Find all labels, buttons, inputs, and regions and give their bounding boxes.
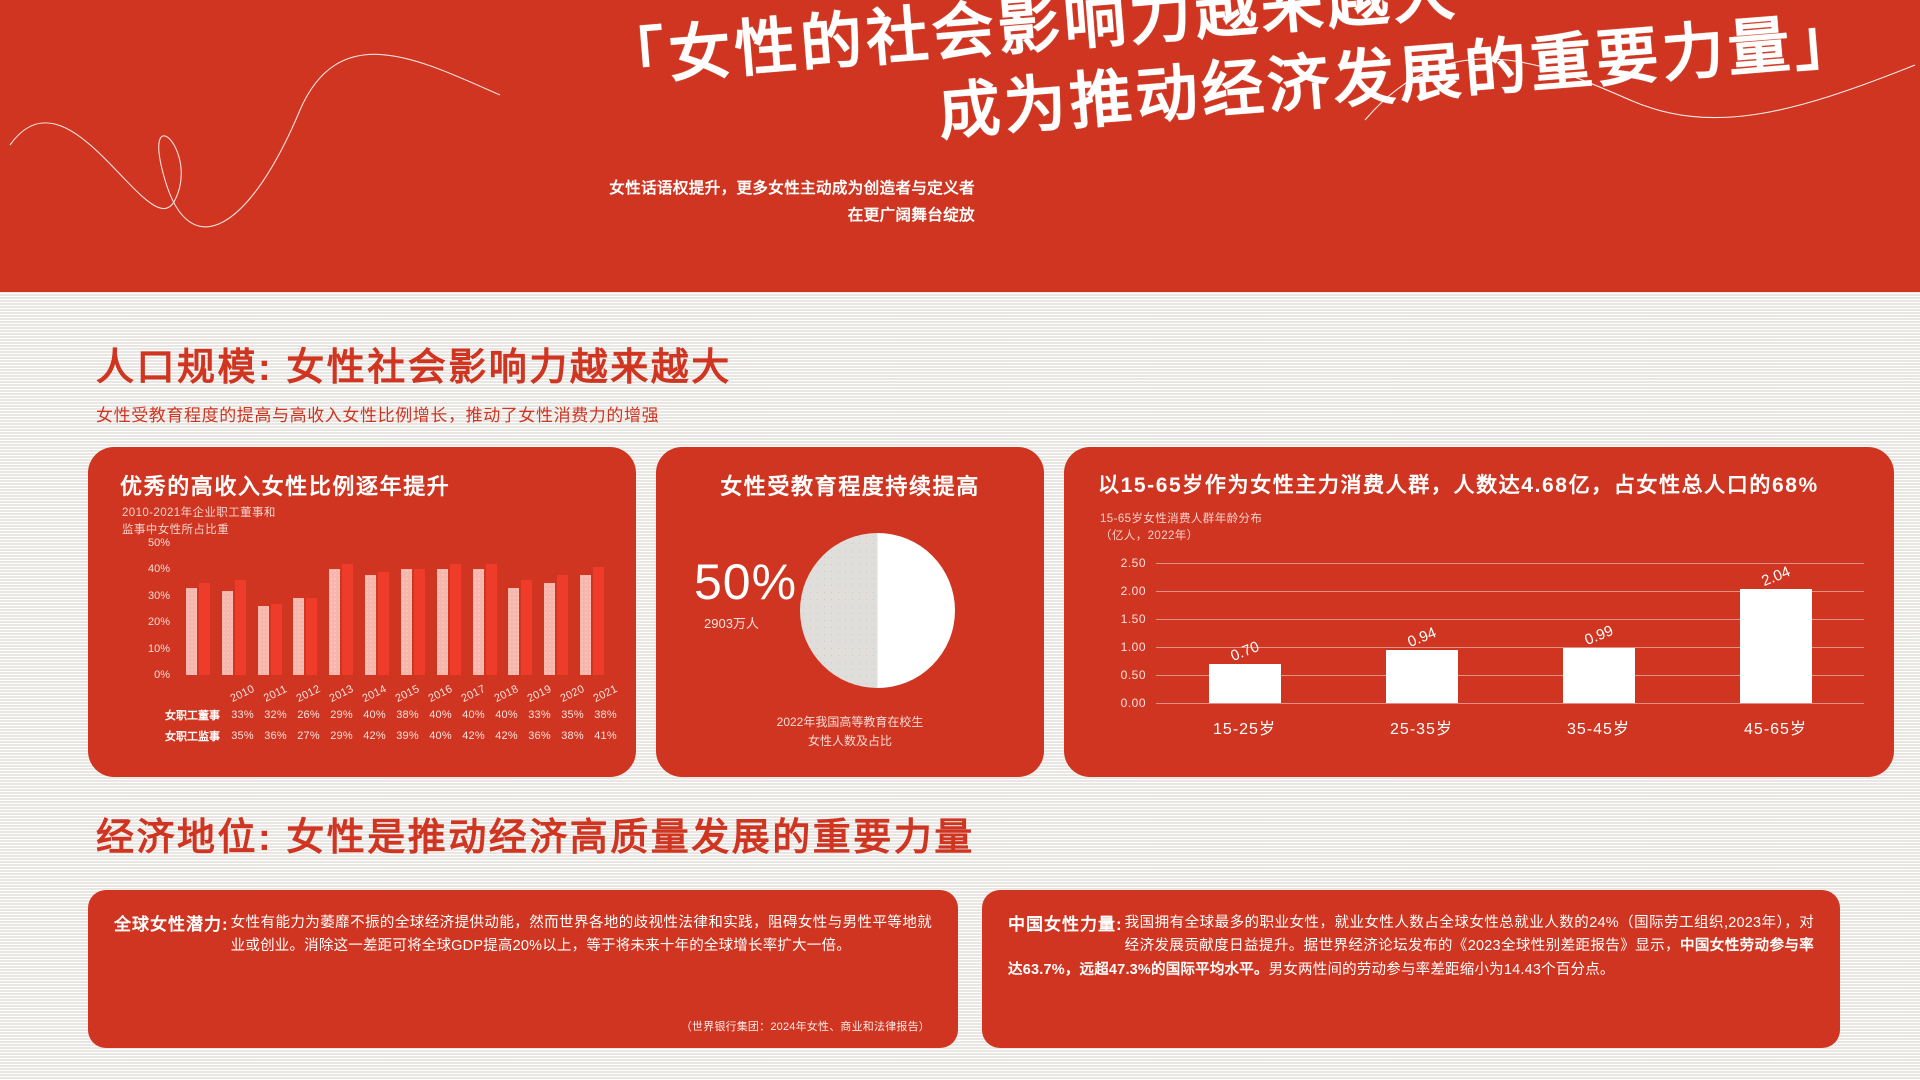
income-data-table: 2010201120122013201420152016201720182019… [122, 683, 622, 746]
panel-global-potential: 全球女性潜力: 女性有能力为萎靡不振的全球经济提供动能，然而世界各地的歧视性法律… [88, 890, 958, 1048]
consumption-category-label: 45-65岁 [1687, 715, 1864, 739]
consumption-y-tick: 1.50 [1100, 612, 1146, 626]
income-bar [544, 583, 555, 675]
consumption-bar: 2.04 [1740, 589, 1812, 703]
section-two-title: 经济地位: 女性是推动经济高质量发展的重要力量 [96, 806, 975, 861]
income-table-year-header: 2015 [390, 681, 425, 706]
income-table-cell: 32% [259, 709, 292, 721]
consumption-gridline [1156, 703, 1864, 704]
income-bar [378, 572, 389, 675]
income-bar-group [252, 543, 288, 675]
income-table-cell: 40% [490, 709, 523, 721]
card-income-note-line1: 2010-2021年企业职工董事和 [122, 505, 276, 522]
income-bar [557, 575, 568, 675]
legend-swatch-icon [126, 708, 224, 723]
insight-panels-row: 全球女性潜力: 女性有能力为萎靡不振的全球经济提供动能，然而世界各地的歧视性法律… [88, 890, 1840, 1048]
consumption-category-label: 25-35岁 [1333, 715, 1510, 739]
consumption-category-label: 15-25岁 [1156, 715, 1333, 739]
card-income-share: 优秀的高收入女性比例逐年提升 2010-2021年企业职工董事和 监事中女性所占… [88, 447, 636, 777]
income-bar-group [323, 543, 359, 675]
income-bar-group [574, 543, 610, 675]
income-table-cell: 36% [523, 730, 556, 742]
income-table-cell: 40% [424, 730, 457, 742]
income-table-year-header: 2017 [456, 681, 491, 706]
consumption-bar-value: 0.70 [1228, 638, 1261, 665]
income-bar-group [395, 543, 431, 675]
panel-global-body: 女性有能力为萎靡不振的全球经济提供动能，然而世界各地的歧视性法律和实践，阻碍女性… [114, 912, 932, 959]
income-table-year-header: 2013 [324, 681, 359, 706]
card-consumption-note-line2: （亿人，2022年） [1100, 528, 1262, 545]
card-education-caption-line1: 2022年我国高等教育在校生 [656, 713, 1044, 732]
income-bar-group [216, 543, 252, 675]
income-bar [293, 598, 304, 675]
income-table-cell: 36% [259, 730, 292, 742]
hero-title: 「女性的社会影响力越来越大 成为推动经济发展的重要力量」 [600, 0, 1909, 180]
consumption-bar-value: 0.94 [1405, 625, 1438, 652]
hero-subtitle-line1: 女性话语权提升，更多女性主动成为创造者与定义者 [455, 175, 975, 202]
consumption-category-label: 35-45岁 [1510, 715, 1687, 739]
income-bar [306, 598, 317, 675]
consumption-chart-plot: 0.700.940.992.04 [1156, 563, 1864, 703]
consumption-bar: 0.70 [1209, 664, 1281, 703]
hero-banner: 「女性的社会影响力越来越大 成为推动经济发展的重要力量」 女性话语权提升，更多女… [0, 0, 1920, 292]
income-bar [437, 569, 448, 675]
panel-china-body: 我国拥有全球最多的职业女性，就业女性人数占全球女性总就业人数的24%（国际劳工组… [1008, 912, 1814, 982]
income-table-cell: 39% [391, 730, 424, 742]
income-bar-group [431, 543, 467, 675]
hero-subtitle: 女性话语权提升，更多女性主动成为创造者与定义者 在更广阔舞台绽放 [455, 175, 975, 229]
income-table-cell: 41% [589, 730, 622, 742]
income-y-tick: 20% [122, 616, 170, 628]
card-consumption-population: 以15-65岁作为女性主力消费人群，人数达4.68亿，占女性总人口的68% 15… [1064, 447, 1894, 777]
income-y-tick: 50% [122, 537, 170, 549]
card-consumption-title: 以15-65岁作为女性主力消费人群，人数达4.68亿，占女性总人口的68% [1098, 469, 1819, 499]
income-table-cell: 38% [589, 709, 622, 721]
card-consumption-note: 15-65岁女性消费人群年龄分布 （亿人，2022年） [1100, 511, 1262, 546]
card-consumption-note-line1: 15-65岁女性消费人群年龄分布 [1100, 511, 1262, 528]
section-one-title: 人口规模: 女性社会影响力越来越大 [96, 336, 732, 391]
income-bar-chart: 50%40%30%20%10%0% [122, 543, 610, 675]
panel-global-lead: 全球女性潜力: [114, 912, 231, 938]
income-table-row: 女职工监事35%36%27%29%42%39%40%42%42%36%38%41… [122, 725, 622, 746]
pie-center-value: 50% [694, 553, 797, 611]
income-table-year-header: 2012 [291, 681, 326, 706]
consumption-y-tick: 2.50 [1100, 556, 1146, 570]
income-table-cell: 38% [391, 709, 424, 721]
income-bar-group [502, 543, 538, 675]
income-y-tick: 0% [122, 669, 170, 681]
income-table-year-header: 2021 [588, 681, 623, 706]
income-bar [580, 575, 591, 675]
income-table-cell: 38% [556, 730, 589, 742]
income-table-year-header: 2010 [225, 681, 260, 706]
income-table-cell: 42% [457, 730, 490, 742]
consumption-bar-group: 0.99 [1510, 563, 1687, 703]
income-bar-group [467, 543, 503, 675]
education-pie-chart: 50% 2903万人 [656, 525, 1044, 695]
income-table-cell: 26% [292, 709, 325, 721]
consumption-bar-group: 0.70 [1156, 563, 1333, 703]
income-bar-group [359, 543, 395, 675]
consumption-y-tick: 0.50 [1100, 668, 1146, 682]
income-bar-group [180, 543, 216, 675]
income-table-cell: 27% [292, 730, 325, 742]
income-bar [365, 575, 376, 675]
card-income-note: 2010-2021年企业职工董事和 监事中女性所占比重 [122, 505, 276, 540]
income-bar [521, 580, 532, 675]
income-y-tick: 10% [122, 643, 170, 655]
income-bar [258, 606, 269, 675]
consumption-chart-categories: 15-25岁25-35岁35-45岁45-65岁 [1156, 715, 1864, 739]
income-bar [486, 564, 497, 675]
card-education-title: 女性受教育程度持续提高 [656, 469, 1044, 501]
card-income-title: 优秀的高收入女性比例逐年提升 [120, 469, 450, 501]
income-table-cell: 40% [424, 709, 457, 721]
income-table-cell: 29% [325, 709, 358, 721]
consumption-bar: 0.99 [1563, 648, 1635, 703]
income-bar [329, 569, 340, 675]
income-bar [235, 580, 246, 675]
income-bar [414, 569, 425, 675]
legend-swatch-icon [126, 729, 224, 744]
income-table-header-row: 2010201120122013201420152016201720182019… [122, 683, 622, 704]
income-table-year-header: 2018 [489, 681, 524, 706]
income-bar [186, 588, 197, 675]
income-table-cell: 35% [556, 709, 589, 721]
section-two-heading: 经济地位: 女性是推动经济高质量发展的重要力量 [96, 806, 975, 861]
hero-subtitle-line2: 在更广阔舞台绽放 [455, 202, 975, 229]
income-bar [401, 569, 412, 675]
income-series-legend: 女职工监事 [122, 728, 226, 744]
income-table-cell: 40% [457, 709, 490, 721]
consumption-bar-group: 0.94 [1333, 563, 1510, 703]
income-bar [222, 591, 233, 675]
consumption-bar-value: 2.04 [1759, 563, 1792, 590]
income-bar [473, 569, 484, 675]
income-bar [271, 604, 282, 675]
income-table-cell: 33% [523, 709, 556, 721]
income-y-tick: 40% [122, 563, 170, 575]
income-table-cell: 40% [358, 709, 391, 721]
pie-center-subvalue: 2903万人 [704, 613, 759, 632]
income-series-legend: 女职工董事 [122, 707, 226, 723]
income-table-cell: 42% [490, 730, 523, 742]
income-bar-group [538, 543, 574, 675]
card-education-caption: 2022年我国高等教育在校生 女性人数及占比 [656, 713, 1044, 751]
panel-china-body-part2: 男女两性间的劳动参与率差距缩小为14.43个百分点。 [1269, 962, 1615, 978]
card-education-level: 女性受教育程度持续提高 50% 2903万人 2022年我国高等教育在校生 女性… [656, 447, 1044, 777]
income-chart-plot [180, 543, 610, 675]
card-education-caption-line2: 女性人数及占比 [656, 732, 1044, 751]
consumption-bar: 0.94 [1386, 650, 1458, 703]
income-bar [450, 564, 461, 675]
income-bar [199, 583, 210, 675]
income-table-row: 女职工董事33%32%26%29%40%38%40%40%40%33%35%38… [122, 704, 622, 725]
income-table-cell: 33% [226, 709, 259, 721]
consumption-bar-value: 0.99 [1582, 622, 1615, 649]
income-table-cell: 42% [358, 730, 391, 742]
consumption-y-tick: 0.00 [1100, 696, 1146, 710]
income-bar [593, 567, 604, 675]
consumption-y-tick: 1.00 [1100, 640, 1146, 654]
decorative-swirl-icon [0, 0, 700, 292]
stat-cards-row: 优秀的高收入女性比例逐年提升 2010-2021年企业职工董事和 监事中女性所占… [88, 447, 1894, 777]
panel-china-power: 中国女性力量: 我国拥有全球最多的职业女性，就业女性人数占全球女性总就业人数的2… [982, 890, 1840, 1048]
pie-shape [800, 533, 955, 688]
income-table-cell: 35% [226, 730, 259, 742]
income-table-year-header: 2011 [258, 681, 293, 706]
income-table-year-header: 2019 [522, 681, 557, 706]
income-bar [508, 588, 519, 675]
income-bar [342, 564, 353, 675]
panel-china-lead: 中国女性力量: [1008, 912, 1125, 938]
income-table-year-header: 2014 [357, 681, 392, 706]
consumption-y-tick: 2.00 [1100, 584, 1146, 598]
consumption-bar-chart: 2.502.001.501.000.500.000.700.940.992.04 [1100, 563, 1864, 703]
panel-global-source: （世界银行集团：2024年女性、商业和法律报告） [681, 1018, 930, 1034]
section-one-heading: 人口规模: 女性社会影响力越来越大 女性受教育程度的提高与高收入女性比例增长，推… [96, 336, 732, 426]
income-y-tick: 30% [122, 590, 170, 602]
section-one-subtitle: 女性受教育程度的提高与高收入女性比例增长，推动了女性消费力的增强 [96, 401, 732, 426]
income-table-cell: 29% [325, 730, 358, 742]
consumption-bar-group: 2.04 [1687, 563, 1864, 703]
income-table-year-header: 2020 [555, 681, 590, 706]
income-table-year-header: 2016 [423, 681, 458, 706]
income-bar-group [287, 543, 323, 675]
